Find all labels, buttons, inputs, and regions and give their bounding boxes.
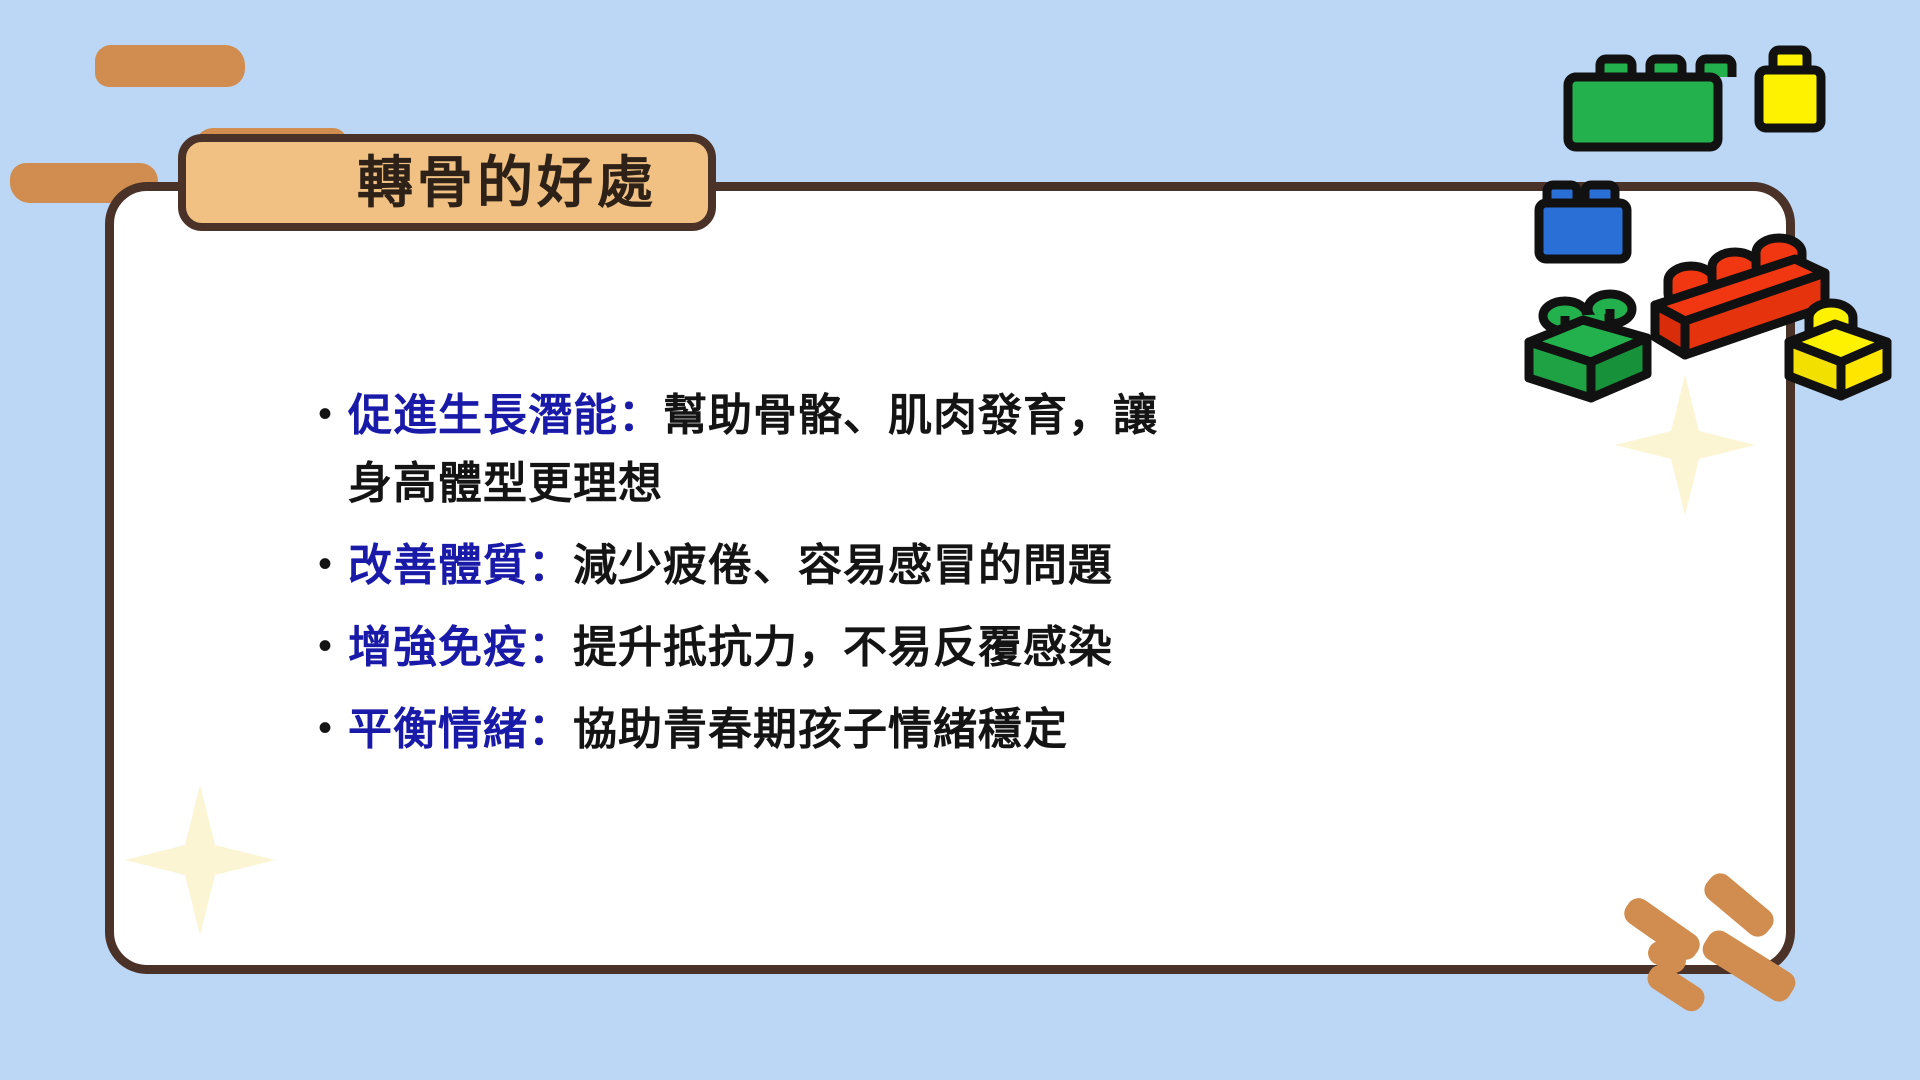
lego-brick-blue-icon [1525, 175, 1645, 275]
list-item: • 促進生長潛能：幫助骨骼、肌肉發育，讓 身高體型更理想 [318, 382, 1548, 518]
list-item-text: 幫助骨骼、肌肉發育，讓 [663, 391, 1158, 440]
list-item: • 平衡情緒：協助青春期孩子情緒穩定 [318, 696, 1548, 764]
list-item-text: 協助青春期孩子情緒穩定 [573, 705, 1068, 754]
brush-stroke-top-1 [95, 45, 245, 87]
list-item-body: 改善體質：減少疲倦、容易感冒的問題 [348, 532, 1548, 600]
list-item-line: 增強免疫：提升抵抗力，不易反覆感染 [348, 614, 1548, 682]
list-item-line: 促進生長潛能：幫助骨骼、肌肉發育，讓 [348, 382, 1548, 450]
list-item: • 增強免疫：提升抵抗力，不易反覆感染 [318, 614, 1548, 682]
list-item-text: 減少疲倦、容易感冒的問題 [573, 541, 1113, 590]
list-item-separator: ： [528, 623, 573, 672]
slide-canvas: 轉骨的好處 • 促進生長潛能：幫助骨骼、肌肉發育，讓 身高體型更理想 • 改善體… [0, 0, 1920, 1080]
lego-brick-yellow-iso-icon [1775, 290, 1905, 415]
lego-brick-green-flat-icon [1552, 55, 1732, 165]
page-title: 轉骨的好處 [237, 155, 657, 211]
list-item-keyword: 促進生長潛能 [348, 391, 618, 440]
list-item-separator: ： [528, 541, 573, 590]
bullet-marker: • [318, 382, 348, 446]
list-item-line: 平衡情緒：協助青春期孩子情緒穩定 [348, 696, 1548, 764]
list-item-line: 改善體質：減少疲倦、容易感冒的問題 [348, 532, 1548, 600]
list-item-keyword: 改善體質 [348, 541, 528, 590]
list-item-body: 促進生長潛能：幫助骨骼、肌肉發育，讓 身高體型更理想 [348, 382, 1548, 518]
list-item-keyword: 平衡情緒 [348, 705, 528, 754]
lego-brick-yellow-small-icon [1745, 40, 1835, 140]
lego-brick-green-iso-icon [1513, 280, 1663, 410]
list-item-text: 提升抵抗力，不易反覆感染 [573, 623, 1113, 672]
bullet-marker: • [318, 614, 348, 678]
bullet-marker: • [318, 696, 348, 760]
list-item-separator: ： [618, 391, 663, 440]
list-item-separator: ： [528, 705, 573, 754]
list-item-text: 身高體型更理想 [348, 459, 663, 508]
list-item: • 改善體質：減少疲倦、容易感冒的問題 [318, 532, 1548, 600]
list-item-line: 身高體型更理想 [348, 450, 1548, 518]
list-item-body: 平衡情緒：協助青春期孩子情緒穩定 [348, 696, 1548, 764]
list-item-keyword: 增強免疫 [348, 623, 528, 672]
benefits-list: • 促進生長潛能：幫助骨骼、肌肉發育，讓 身高體型更理想 • 改善體質：減少疲倦… [318, 382, 1548, 778]
list-item-body: 增強免疫：提升抵抗力，不易反覆感染 [348, 614, 1548, 682]
bullet-marker: • [318, 532, 348, 596]
title-badge: 轉骨的好處 [178, 134, 716, 231]
